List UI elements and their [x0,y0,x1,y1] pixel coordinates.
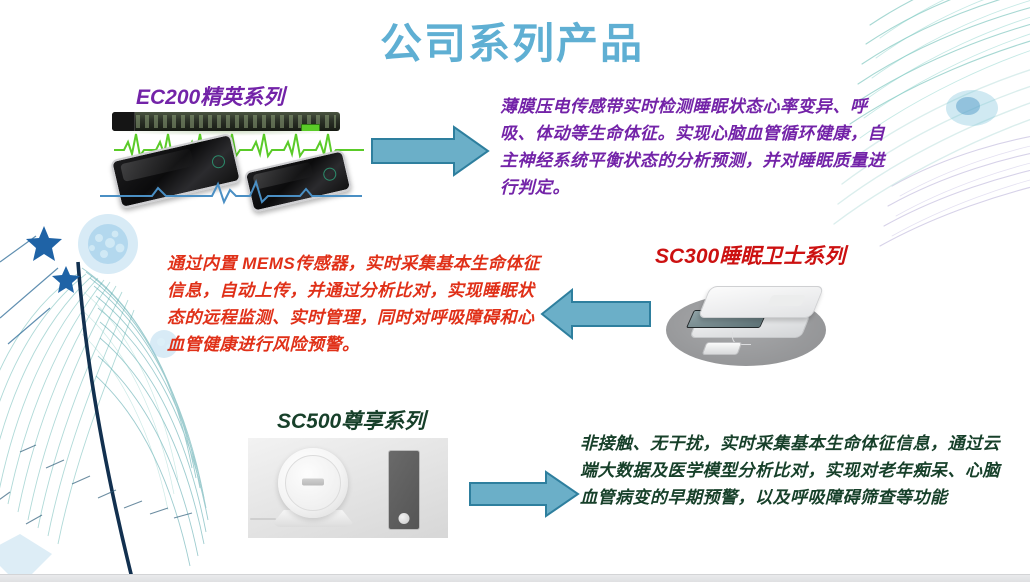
product-label-sc300: SC300睡眠卫士系列 [655,240,845,270]
product-description-ec200: 薄膜压电传感带实时检测睡眠状态心率变异、呼吸、体动等生命体征。实现心脑血管循环健… [500,93,900,201]
phone-home-button [211,154,227,170]
product-image-ec200 [92,108,372,203]
device-cord [250,518,276,520]
product-image-sc500 [248,438,448,538]
product-label-ec200: EC200精英系列 [136,81,284,111]
pulse-waveform-icon [100,178,362,206]
arrow-right-ec200-icon [370,125,490,177]
slide-bottom-strip [0,574,1030,582]
round-monitor-device [278,448,348,518]
slide-canvas: 公司系列产品 EC200精英系列 薄膜压电传感带实时检测睡眠状态心率变异、呼吸、… [0,0,1030,582]
arrow-left-sc300-icon [540,288,652,340]
mat-top-layer [698,286,825,318]
mat-control-box [702,342,743,355]
device-logo [302,478,324,485]
panel-indicator-dot [399,513,410,524]
page-title: 公司系列产品 [380,10,644,71]
dark-panel-device [388,450,420,530]
product-label-sc500: SC500尊享系列 [277,405,425,435]
arrow-right-sc500-icon [468,470,580,518]
product-description-sc300: 通过内置 MEMS传感器，实时采集基本生命体征信息，自动上传，并通过分析比对，实… [167,250,542,358]
product-description-sc500: 非接触、无干扰，实时采集基本生命体征信息，通过云端大数据及医学模型分析比对，实现… [580,430,1000,511]
mat-top-notch [767,295,805,306]
product-image-sc300 [648,268,838,370]
